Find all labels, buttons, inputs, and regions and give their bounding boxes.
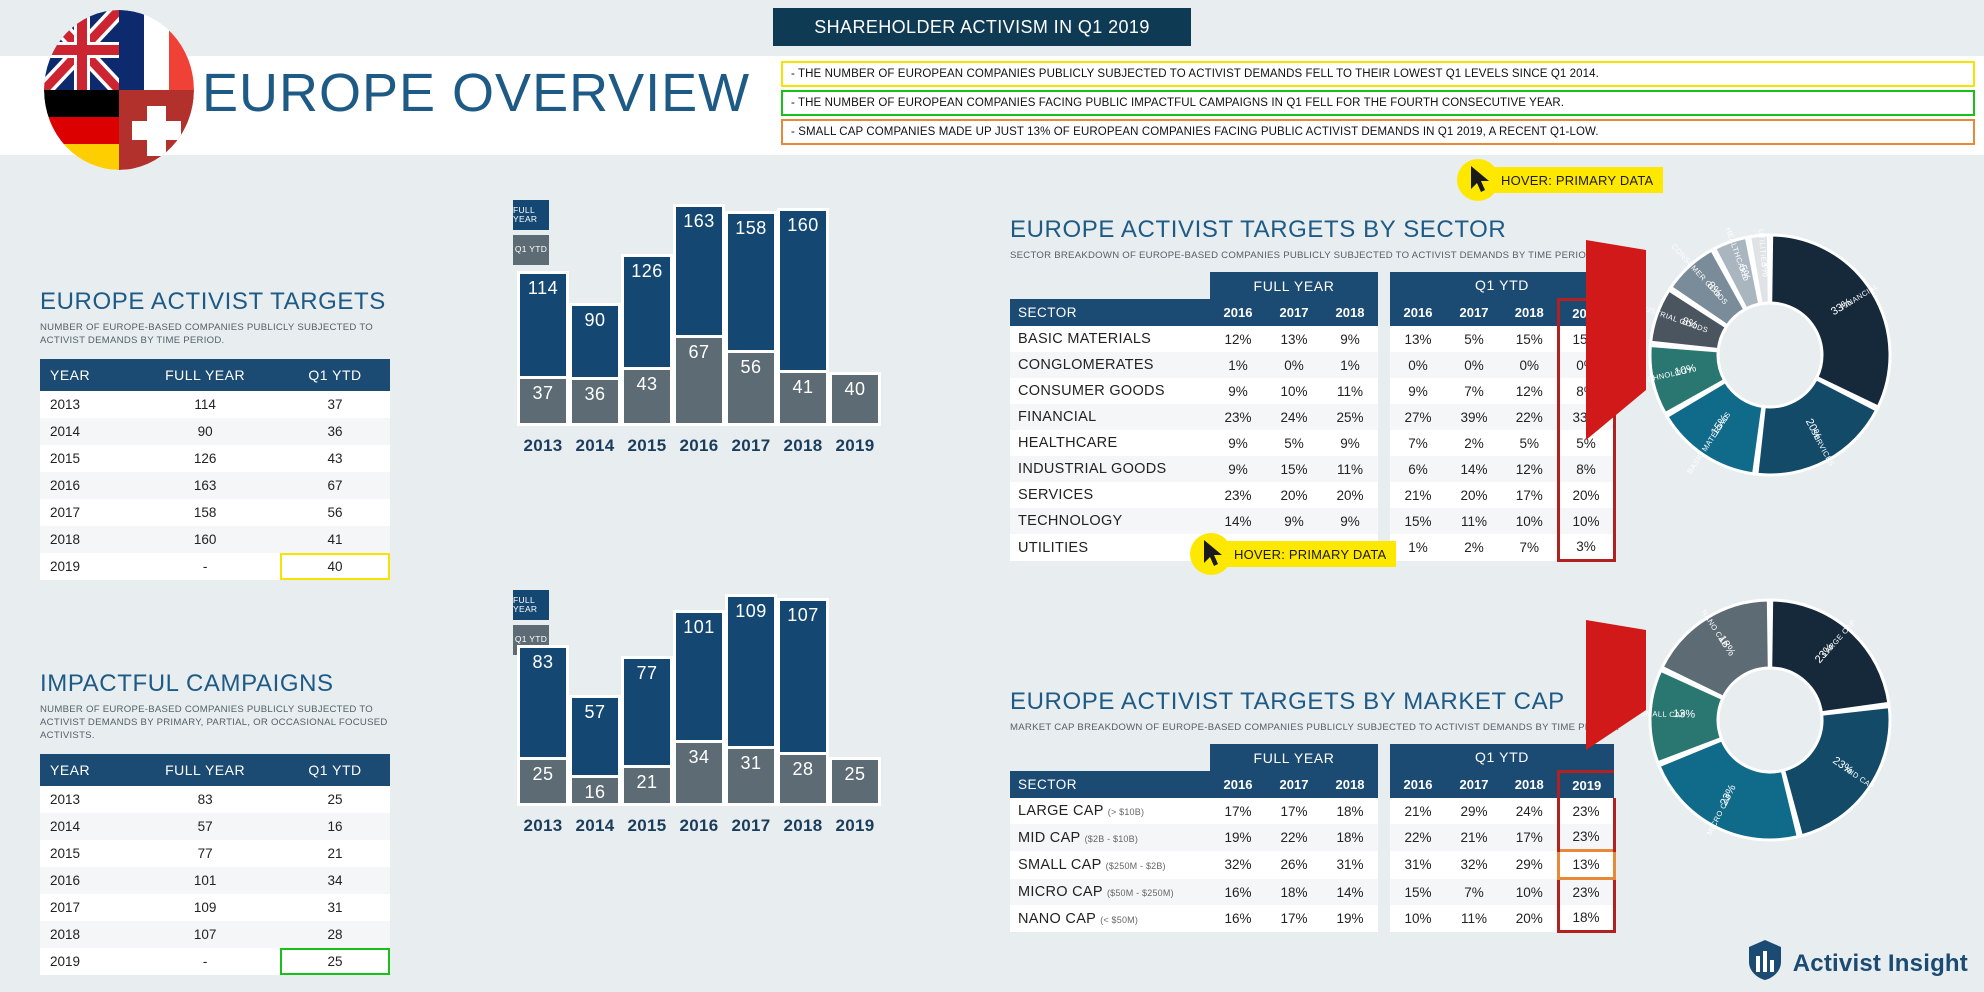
grid-cell: 19% (1210, 824, 1266, 851)
grid-cell: 20% (1558, 482, 1614, 508)
grid-corner-blank (1010, 744, 1210, 772)
bar-value-label: 101 (676, 617, 722, 638)
bar-value-label: 114 (520, 278, 566, 299)
table-row: FINANCIAL23%24%25%27%39%22%33% (1010, 404, 1614, 430)
grid-year-header-2018: 2018 (1322, 299, 1378, 326)
grid-row-label: BASIC MATERIALS (1010, 326, 1210, 352)
grid-spacer (1378, 905, 1390, 932)
bar-value-label: 16 (572, 782, 618, 803)
targets-full-year: 163 (130, 472, 280, 499)
targets-full-year: 114 (130, 391, 280, 418)
bar-x-axis-label: 2016 (673, 436, 725, 456)
campaigns-table: YEAR FULL YEAR Q1 YTD 2013 83 25 2014 57… (40, 754, 390, 975)
donut-slice (1771, 235, 1890, 407)
bar-value-label: 57 (572, 702, 618, 723)
grid-cell: 11% (1446, 508, 1502, 534)
campaigns-full-year: 83 (130, 786, 280, 813)
bar-segment-q1-ytd: 25 (829, 757, 881, 806)
grid-cell: 1% (1210, 352, 1266, 378)
grid-cell: 0% (1446, 352, 1502, 378)
bar-segment-full-year: 158 (725, 211, 777, 350)
targets-full-year: - (130, 553, 280, 580)
targets-year: 2013 (40, 391, 130, 418)
grid-cell: 22% (1390, 824, 1446, 851)
hover-label-marketcap: HOVER: PRIMARY DATA (1216, 541, 1396, 567)
grid-cell: 11% (1322, 456, 1378, 482)
campaigns-col-q1-ytd: Q1 YTD (280, 754, 390, 786)
headline-bullet-2: - THE NUMBER OF EUROPEAN COMPANIES FACIN… (781, 90, 1975, 116)
targets-year: 2017 (40, 499, 130, 526)
marketcap-panel: EUROPE ACTIVIST TARGETS BY MARKET CAP MA… (1010, 688, 1619, 933)
grid-group-q1-ytd: Q1 YTD (1390, 272, 1614, 300)
bar-column: 8325 (517, 645, 569, 806)
grid-cell: 17% (1502, 824, 1558, 851)
grid-row-label: CONSUMER GOODS (1010, 378, 1210, 404)
bar-segment-full-year: 114 (517, 271, 569, 376)
grid-cell: 31% (1390, 851, 1446, 879)
bar-segment-full-year: 160 (777, 208, 829, 370)
grid-spacer (1378, 456, 1390, 482)
legend-q1-ytd-label: Q1 YTD (515, 635, 547, 644)
grid-cell: 23% (1558, 879, 1614, 906)
grid-spacer (1378, 378, 1390, 404)
grid-cell: 0% (1266, 352, 1322, 378)
grid-cell: 7% (1390, 430, 1446, 456)
bar-segment-q1-ytd: 56 (725, 350, 777, 426)
hover-primary-data-badge-marketcap[interactable]: HOVER: PRIMARY DATA (1190, 533, 1396, 575)
targets-q1-ytd: 43 (280, 445, 390, 472)
table-row: 2013 83 25 (40, 786, 390, 813)
targets-full-year: 126 (130, 445, 280, 472)
grid-cell: 29% (1446, 798, 1502, 824)
headline-bullet-3: - SMALL CAP COMPANIES MADE UP JUST 13% O… (781, 119, 1975, 145)
grid-year-header-2017: 2017 (1446, 299, 1502, 326)
bar-x-axis-label: 2016 (673, 816, 725, 836)
grid-row-label: HEALTHCARE (1010, 430, 1210, 456)
bar-segment-full-year: 109 (725, 594, 777, 746)
bar-value-label: 90 (572, 310, 618, 331)
bar-x-axis-label: 2017 (725, 436, 777, 456)
grid-cell: 31% (1322, 851, 1378, 879)
grid-cell: 13% (1558, 851, 1614, 879)
grid-cell: 21% (1446, 824, 1502, 851)
grid-spacer (1378, 851, 1390, 879)
bar-column: 10134 (673, 610, 725, 806)
grid-cell: 15% (1390, 879, 1446, 906)
grid-cell: 9% (1322, 430, 1378, 456)
campaigns-q1-ytd: 21 (280, 840, 390, 867)
grid-cell: 7% (1446, 378, 1502, 404)
sector-panel: EUROPE ACTIVIST TARGETS BY SECTOR SECTOR… (1010, 216, 1616, 562)
bar-segment-q1-ytd: 43 (621, 367, 673, 426)
banner-title-text: SHAREHOLDER ACTIVISM IN Q1 2019 (814, 17, 1150, 38)
bar-value-label: 83 (520, 652, 566, 673)
grid-cell: 11% (1322, 378, 1378, 404)
bar-x-axis-label: 2018 (777, 436, 829, 456)
table-row: 2019 - 25 (40, 948, 390, 975)
bar-segment-full-year: 90 (569, 303, 621, 377)
bar-column: 16367 (673, 204, 725, 426)
grid-cell: 23% (1210, 404, 1266, 430)
grid-row-sublabel: ($250M - $2B) (1106, 861, 1166, 871)
grid-spacer (1378, 879, 1390, 906)
grid-cell: 17% (1502, 482, 1558, 508)
bar-value-label: 41 (780, 377, 826, 398)
targets-full-year: 160 (130, 526, 280, 553)
grid-cell: 5% (1446, 326, 1502, 352)
campaigns-year: 2018 (40, 921, 130, 948)
campaigns-full-year: 57 (130, 813, 280, 840)
campaigns-q1-ytd-highlight: 25 (280, 948, 390, 975)
bar-value-label: 21 (624, 772, 670, 793)
targets-q1-ytd-highlight: 40 (280, 553, 390, 580)
bar-column: 9036 (569, 303, 621, 426)
grid-group-header-row: FULL YEARQ1 YTD (1010, 272, 1614, 300)
bar-column: 40 (829, 372, 881, 426)
bar-value-label: 107 (780, 605, 826, 626)
grid-cell: 17% (1210, 798, 1266, 824)
bar-segment-q1-ytd: 16 (569, 775, 621, 806)
marketcap-panel-subtitle: MARKET CAP BREAKDOWN OF EUROPE-BASED COM… (1010, 722, 1619, 735)
bar-segment-full-year: 107 (777, 598, 829, 752)
targets-q1-ytd: 56 (280, 499, 390, 526)
grid-cell: 9% (1210, 456, 1266, 482)
grid-cell: 15% (1502, 326, 1558, 352)
bar-x-axis-label: 2013 (517, 816, 569, 836)
grid-year-header-2016: 2016 (1210, 299, 1266, 326)
sector-table: FULL YEARQ1 YTDSECTOR2016201720182016201… (1010, 272, 1616, 563)
grid-year-header-2018: 2018 (1322, 771, 1378, 798)
bar-value-label: 37 (520, 383, 566, 404)
grid-cell: 19% (1322, 905, 1378, 932)
legend-full-year-label: FULL YEAR (513, 596, 549, 615)
marketcap-2019-callout-arrow (1584, 620, 1704, 760)
bar-segment-full-year: 57 (569, 695, 621, 775)
table-row: 2018 107 28 (40, 921, 390, 948)
grid-cell: 10% (1558, 508, 1614, 534)
bar-value-label: 160 (780, 215, 826, 236)
targets-table: YEAR FULL YEAR Q1 YTD 2013 114 37 2014 9… (40, 359, 390, 580)
europe-activist-targets-panel: EUROPE ACTIVIST TARGETS NUMBER OF EUROPE… (40, 288, 390, 580)
grid-spacer (1378, 824, 1390, 851)
grid-cell: 20% (1266, 482, 1322, 508)
bar-value-label: 109 (728, 601, 774, 622)
grid-year-header-2017: 2017 (1266, 299, 1322, 326)
grid-cell: 32% (1210, 851, 1266, 879)
grid-spacer (1378, 430, 1390, 456)
grid-row-label: INDUSTRIAL GOODS (1010, 456, 1210, 482)
grid-cell: 14% (1446, 456, 1502, 482)
grid-spacer (1378, 404, 1390, 430)
hover-primary-data-badge-sector[interactable]: HOVER: PRIMARY DATA (1457, 159, 1663, 201)
grid-cell: 17% (1266, 905, 1322, 932)
bar-segment-q1-ytd: 37 (517, 376, 569, 426)
bar-x-axis-label: 2019 (829, 816, 881, 836)
targets-year: 2014 (40, 418, 130, 445)
grid-cell: 23% (1558, 798, 1614, 824)
bar-x-axis-label: 2015 (621, 436, 673, 456)
targets-col-q1-ytd: Q1 YTD (280, 359, 390, 391)
grid-cell: 18% (1558, 905, 1614, 932)
campaigns-q1-ytd: 28 (280, 921, 390, 948)
logo-text: Activist Insight (1793, 950, 1968, 978)
grid-cell: 24% (1502, 798, 1558, 824)
grid-cell: 23% (1210, 482, 1266, 508)
grid-cell: 10% (1502, 508, 1558, 534)
cursor-icon (1202, 539, 1224, 569)
bar-column: 11437 (517, 271, 569, 426)
campaigns-year: 2014 (40, 813, 130, 840)
campaigns-col-year: YEAR (40, 754, 130, 786)
bar-x-axis-label: 2017 (725, 816, 777, 836)
legend-full-year: FULL YEAR (513, 590, 549, 620)
grid-cell: 9% (1390, 378, 1446, 404)
grid-cell: 13% (1266, 326, 1322, 352)
campaigns-q1-ytd: 16 (280, 813, 390, 840)
grid-cell: 2% (1446, 430, 1502, 456)
grid-cell: 3% (1558, 534, 1614, 561)
grid-sector-header: SECTOR (1010, 771, 1210, 798)
grid-cell: 2% (1446, 534, 1502, 561)
campaigns-q1-ytd: 34 (280, 867, 390, 894)
table-row: 2018 160 41 (40, 526, 390, 553)
targets-panel-subtitle: NUMBER OF EUROPE-BASED COMPANIES PUBLICL… (40, 322, 390, 348)
table-row: 2016 101 34 (40, 867, 390, 894)
grid-cell: 14% (1322, 879, 1378, 906)
grid-cell: 9% (1322, 326, 1378, 352)
targets-full-year: 158 (130, 499, 280, 526)
bar-value-label: 56 (728, 357, 774, 378)
bar-column: 5716 (569, 695, 621, 806)
grid-cell: 11% (1446, 905, 1502, 932)
grid-year-header-2017: 2017 (1446, 771, 1502, 798)
bar-segment-full-year: 163 (673, 204, 725, 335)
grid-group-full-year: FULL YEAR (1210, 272, 1378, 300)
targets-year: 2015 (40, 445, 130, 472)
grid-row-label: UTILITIES (1010, 534, 1210, 561)
bar-segment-q1-ytd: 31 (725, 746, 777, 806)
grid-cell: 8% (1558, 456, 1614, 482)
legend-full-year: FULL YEAR (513, 200, 549, 230)
legend-full-year-label: FULL YEAR (513, 206, 549, 225)
headline-bullet-2-text: - THE NUMBER OF EUROPEAN COMPANIES FACIN… (791, 97, 1564, 109)
bar-segment-full-year: 126 (621, 254, 673, 367)
europe-flags-logo (44, 10, 194, 170)
bar-value-label: 34 (676, 747, 722, 768)
grid-cell: 39% (1446, 404, 1502, 430)
table-row: TECHNOLOGY14%9%9%15%11%10%10% (1010, 508, 1614, 534)
targets-year: 2018 (40, 526, 130, 553)
table-row: 2013 114 37 (40, 391, 390, 418)
sector-2019-callout-arrow (1584, 240, 1704, 460)
grid-cell: 15% (1266, 456, 1322, 482)
bar-value-label: 163 (676, 211, 722, 232)
table-row: 2014 90 36 (40, 418, 390, 445)
bar-value-label: 43 (624, 374, 670, 395)
legend-q1-ytd-label: Q1 YTD (515, 245, 547, 254)
grid-row-label: MID CAP ($2B - $10B) (1010, 824, 1210, 851)
cursor-icon (1469, 165, 1491, 195)
grid-cell: 24% (1266, 404, 1322, 430)
bar-segment-full-year: 77 (621, 656, 673, 765)
grid-cell: 18% (1322, 798, 1378, 824)
table-row: 2016 163 67 (40, 472, 390, 499)
grid-cell: 10% (1390, 905, 1446, 932)
bar-value-label: 31 (728, 753, 774, 774)
bar-x-axis-label: 2014 (569, 436, 621, 456)
bar-segment-q1-ytd: 28 (777, 752, 829, 806)
table-row: 2014 57 16 (40, 813, 390, 840)
grid-cell: 21% (1390, 798, 1446, 824)
grid-sector-header: SECTOR (1010, 299, 1210, 326)
bar-column: 7721 (621, 656, 673, 806)
campaigns-q1-ytd: 31 (280, 894, 390, 921)
campaigns-table-header-row: YEAR FULL YEAR Q1 YTD (40, 754, 390, 786)
campaigns-panel-title: IMPACTFUL CAMPAIGNS (40, 670, 390, 698)
grid-spacer (1378, 326, 1390, 352)
grid-row-label: SERVICES (1010, 482, 1210, 508)
bar-value-label: 25 (832, 764, 878, 785)
targets-table-header-row: YEAR FULL YEAR Q1 YTD (40, 359, 390, 391)
grid-row-label: LARGE CAP (> $10B) (1010, 798, 1210, 824)
targets-col-full-year: FULL YEAR (130, 359, 280, 391)
grid-cell: 0% (1390, 352, 1446, 378)
bar-column: 10931 (725, 594, 777, 806)
grid-cell: 25% (1322, 404, 1378, 430)
grid-cell: 26% (1266, 851, 1322, 879)
donut-slice-value: 3% (1758, 261, 1771, 278)
grid-cell: 29% (1502, 851, 1558, 879)
headline-bullet-1-text: - THE NUMBER OF EUROPEAN COMPANIES PUBLI… (791, 68, 1599, 80)
grid-group-full-year: FULL YEAR (1210, 744, 1378, 772)
bar-value-label: 126 (624, 261, 670, 282)
bar-column: 12643 (621, 254, 673, 426)
bar-segment-q1-ytd: 25 (517, 757, 569, 806)
marketcap-panel-title: EUROPE ACTIVIST TARGETS BY MARKET CAP (1010, 688, 1619, 716)
grid-cell: 12% (1502, 378, 1558, 404)
grid-cell: 14% (1210, 508, 1266, 534)
grid-cell: 16% (1210, 879, 1266, 906)
activist-insight-logo: Activist Insight (1745, 938, 1968, 982)
impactful-campaigns-bar-chart: FULL YEAR Q1 YTD 83252013571620147721201… (513, 590, 968, 840)
grid-year-header-2017: 2017 (1266, 771, 1322, 798)
grid-cell: 15% (1390, 508, 1446, 534)
headline-bullet-3-text: - SMALL CAP COMPANIES MADE UP JUST 13% O… (791, 126, 1599, 138)
bar-x-axis-label: 2013 (517, 436, 569, 456)
grid-spacer (1378, 771, 1390, 798)
table-row: 2015 126 43 (40, 445, 390, 472)
grid-row-label: TECHNOLOGY (1010, 508, 1210, 534)
banner-title: SHAREHOLDER ACTIVISM IN Q1 2019 (773, 8, 1191, 46)
bar-column: 10728 (777, 598, 829, 806)
table-row: 2019 - 40 (40, 553, 390, 580)
campaigns-year: 2013 (40, 786, 130, 813)
grid-year-header-2016: 2016 (1390, 771, 1446, 798)
campaigns-year: 2019 (40, 948, 130, 975)
grid-row-label: MICRO CAP ($50M - $250M) (1010, 879, 1210, 906)
grid-cell: 5% (1502, 430, 1558, 456)
marketcap-table: FULL YEARQ1 YTDSECTOR2016201720182016201… (1010, 744, 1616, 934)
targets-q1-ytd: 37 (280, 391, 390, 418)
bar-value-label: 67 (676, 342, 722, 363)
grid-cell: 21% (1390, 482, 1446, 508)
targets-q1-ytd: 41 (280, 526, 390, 553)
page-title: EUROPE OVERVIEW (202, 62, 750, 124)
grid-cell: 5% (1266, 430, 1322, 456)
grid-cell: 20% (1502, 905, 1558, 932)
table-row: CONGLOMERATES1%0%1%0%0%0%0% (1010, 352, 1614, 378)
table-row: 2017 109 31 (40, 894, 390, 921)
grid-cell: 10% (1266, 378, 1322, 404)
legend-q1-ytd: Q1 YTD (513, 235, 549, 265)
grid-cell: 22% (1266, 824, 1322, 851)
grid-year-header-row: SECTOR2016201720182016201720182019 (1010, 771, 1614, 798)
campaigns-full-year: 107 (130, 921, 280, 948)
europe-activist-targets-bar-chart: FULL YEAR Q1 YTD 11437201390362014126432… (513, 200, 968, 460)
grid-spacer (1378, 798, 1390, 824)
grid-cell: 13% (1390, 326, 1446, 352)
bar-x-axis-label: 2014 (569, 816, 621, 836)
table-row: MICRO CAP ($50M - $250M)16%18%14%15%7%10… (1010, 879, 1614, 906)
campaigns-year: 2015 (40, 840, 130, 867)
targets-year: 2016 (40, 472, 130, 499)
grid-row-label: FINANCIAL (1010, 404, 1210, 430)
grid-row-label: CONGLOMERATES (1010, 352, 1210, 378)
grid-spacer (1378, 744, 1390, 772)
grid-cell: 1% (1390, 534, 1446, 561)
grid-row-sublabel: (> $10B) (1108, 807, 1144, 817)
grid-spacer (1378, 482, 1390, 508)
table-row: 2017 158 56 (40, 499, 390, 526)
grid-year-header-row: SECTOR2016201720182016201720182019 (1010, 299, 1614, 326)
bar-value-label: 28 (780, 759, 826, 780)
impactful-campaigns-panel: IMPACTFUL CAMPAIGNS NUMBER OF EUROPE-BAS… (40, 670, 390, 975)
logo-mark-icon (1745, 938, 1785, 982)
grid-group-q1-ytd: Q1 YTD (1390, 744, 1614, 772)
grid-spacer (1378, 508, 1390, 534)
sector-panel-title: EUROPE ACTIVIST TARGETS BY SECTOR (1010, 216, 1616, 244)
header-bottom-strip (0, 155, 1984, 187)
grid-year-header-2016: 2016 (1390, 299, 1446, 326)
table-row: INDUSTRIAL GOODS9%15%11%6%14%12%8% (1010, 456, 1614, 482)
bar-segment-q1-ytd: 41 (777, 370, 829, 426)
bar-column: 25 (829, 757, 881, 806)
grid-cell: 10% (1502, 879, 1558, 906)
bar-column: 16041 (777, 208, 829, 426)
bar-segment-q1-ytd: 21 (621, 765, 673, 806)
bar-x-axis-label: 2018 (777, 816, 829, 836)
campaigns-year: 2017 (40, 894, 130, 921)
targets-year: 2019 (40, 553, 130, 580)
grid-cell: 9% (1322, 508, 1378, 534)
bar-segment-q1-ytd: 40 (829, 372, 881, 426)
bar-segment-full-year: 83 (517, 645, 569, 758)
grid-year-header-2018: 2018 (1502, 771, 1558, 798)
table-row: MID CAP ($2B - $10B)19%22%18%22%21%17%23… (1010, 824, 1614, 851)
campaigns-full-year: 101 (130, 867, 280, 894)
grid-cell: 0% (1502, 352, 1558, 378)
grid-year-header-2019: 2019 (1558, 771, 1614, 798)
table-row: BASIC MATERIALS12%13%9%13%5%15%15% (1010, 326, 1614, 352)
grid-spacer (1378, 352, 1390, 378)
grid-cell: 18% (1266, 879, 1322, 906)
grid-cell: 9% (1266, 508, 1322, 534)
targets-full-year: 90 (130, 418, 280, 445)
targets-q1-ytd: 36 (280, 418, 390, 445)
campaigns-full-year: 109 (130, 894, 280, 921)
sector-panel-subtitle: SECTOR BREAKDOWN OF EUROPE-BASED COMPANI… (1010, 250, 1616, 263)
bar-column: 15856 (725, 211, 777, 426)
